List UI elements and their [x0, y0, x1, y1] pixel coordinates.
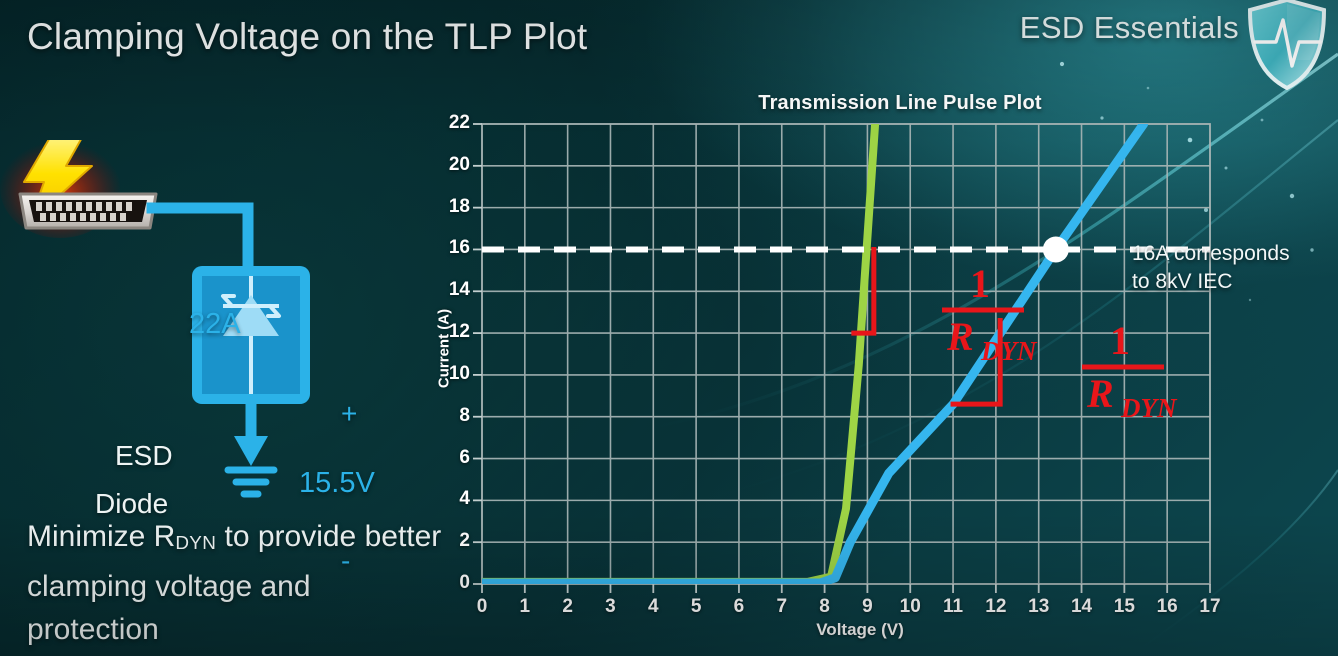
x-tick-label: 2 [551, 596, 585, 618]
hdmi-connector-icon [20, 194, 156, 228]
threshold-marker-dot [1043, 236, 1069, 262]
polarity-plus: + [341, 398, 357, 430]
x-tick-label: 9 [850, 596, 884, 618]
slide-root: Clamping Voltage on the TLP Plot ESD Ess… [0, 0, 1338, 656]
y-tick-label: 18 [428, 196, 470, 218]
x-tick-label: 4 [636, 596, 670, 618]
x-tick-label: 15 [1107, 596, 1141, 618]
x-tick-label: 7 [765, 596, 799, 618]
takeaway-text: Minimize RDYN to provide better clamping… [27, 515, 447, 651]
y-tick-label: 10 [428, 363, 470, 385]
x-tick-label: 3 [593, 596, 627, 618]
y-tick-label: 16 [428, 237, 470, 259]
callout-line2: to 8kV IEC [1132, 268, 1338, 296]
plot-area: 1 R DYN 1 R DYN [420, 92, 1338, 656]
x-tick-label: 11 [936, 596, 970, 618]
y-tick-label: 6 [428, 447, 470, 469]
fraction-denominator-sub-blue: DYN [1120, 393, 1178, 423]
x-tick-label: 6 [722, 596, 756, 618]
esd-circuit-diagram: ESD Diode 22A 15.5V + - [0, 140, 420, 510]
voltage-label: 15.5V [299, 467, 375, 500]
y-tick-label: 20 [428, 154, 470, 176]
current-arrow-icon [234, 436, 268, 466]
y-tick-label: 0 [428, 572, 470, 594]
x-tick-label: 17 [1193, 596, 1227, 618]
y-tick-label: 4 [428, 488, 470, 510]
fraction-numerator-green: 1 [970, 261, 990, 306]
fraction-denominator-green: R [946, 314, 974, 359]
ground-symbol-icon [228, 470, 274, 494]
x-tick-label: 10 [893, 596, 927, 618]
tlp-chart: Transmission Line Pulse Plot Current (A)… [420, 92, 1338, 656]
fraction-denominator-blue: R [1086, 371, 1114, 416]
y-tick-label: 22 [428, 112, 470, 134]
x-tick-label: 13 [1022, 596, 1056, 618]
page-title: Clamping Voltage on the TLP Plot [27, 16, 587, 58]
diode-label-line1: ESD [115, 440, 173, 472]
curve-low-rdyn [482, 124, 875, 582]
current-label: 22A [189, 308, 241, 341]
y-tick-label: 8 [428, 405, 470, 427]
x-tick-label: 14 [1065, 596, 1099, 618]
threshold-callout: 16A corresponds to 8kV IEC [1132, 240, 1338, 296]
x-tick-label: 16 [1150, 596, 1184, 618]
y-tick-label: 2 [428, 530, 470, 552]
circuit-wire [152, 208, 248, 266]
fraction-denominator-sub-green: DYN [980, 336, 1038, 366]
y-tick-label: 12 [428, 321, 470, 343]
curve-high-rdyn [482, 124, 1144, 583]
x-tick-label: 1 [508, 596, 542, 618]
callout-line1: 16A corresponds [1132, 240, 1338, 268]
fraction-numerator-blue: 1 [1110, 318, 1130, 363]
x-tick-label: 0 [465, 596, 499, 618]
fraction-label-green: 1 R DYN [942, 261, 1038, 366]
brand-label: ESD Essentials [1020, 10, 1239, 46]
takeaway-subscript: DYN [175, 533, 216, 554]
takeaway-part1: Minimize R [27, 520, 175, 553]
x-tick-label: 8 [808, 596, 842, 618]
y-tick-label: 14 [428, 279, 470, 301]
shield-heartbeat-icon [1242, 0, 1332, 94]
x-tick-label: 12 [979, 596, 1013, 618]
x-tick-label: 5 [679, 596, 713, 618]
